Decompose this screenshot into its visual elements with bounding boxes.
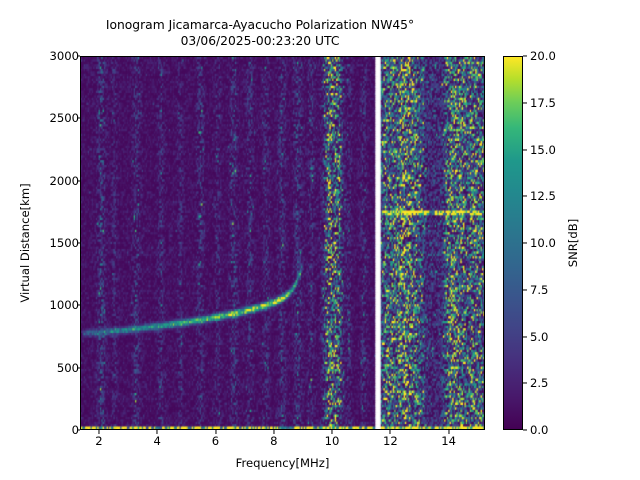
colorbar-label: SNR[dB] — [566, 56, 580, 430]
x-tick-mark — [448, 430, 449, 434]
x-tick-mark — [157, 430, 158, 434]
x-tick-label: 4 — [154, 434, 161, 448]
x-tick-mark — [273, 430, 274, 434]
y-tick-label: 2000 — [49, 174, 79, 188]
x-tick-label: 6 — [212, 434, 219, 448]
colorbar-tick-mark — [523, 289, 527, 290]
colorbar-tick-mark — [523, 242, 527, 243]
x-tick-mark — [98, 430, 99, 434]
colorbar-tick-label: 7.5 — [530, 283, 548, 297]
y-tick-label: 1000 — [49, 298, 79, 312]
y-tick-label: 2500 — [49, 111, 79, 125]
colorbar-tick-label: 20.0 — [530, 49, 556, 63]
x-tick-label: 2 — [95, 434, 102, 448]
colorbar-tick-mark — [523, 429, 527, 430]
x-tick-label: 8 — [270, 434, 277, 448]
colorbar-tick-label: 10.0 — [530, 236, 556, 250]
colorbar-tick-mark — [523, 196, 527, 197]
x-tick-mark — [390, 430, 391, 434]
colorbar-tick-label: 15.0 — [530, 143, 556, 157]
chart-title: Ionogram Jicamarca-Ayacucho Polarization… — [0, 18, 520, 49]
colorbar-tick-label: 17.5 — [530, 96, 556, 110]
chart-title-line2: 03/06/2025-00:23:20 UTC — [181, 34, 340, 48]
colorbar-tick-mark — [523, 55, 527, 56]
x-axis-label: Frequency[MHz] — [80, 456, 485, 470]
x-tick-label: 10 — [325, 434, 340, 448]
y-axis-label: Virtual Distance[km] — [18, 56, 32, 430]
ionogram-heatmap-canvas — [81, 57, 485, 430]
x-tick-mark — [215, 430, 216, 434]
x-tick-mark — [332, 430, 333, 434]
ionogram-plot-area[interactable] — [80, 56, 485, 430]
colorbar-tick-label: 12.5 — [530, 189, 556, 203]
y-tick-label: 3000 — [49, 49, 79, 63]
colorbar-tick-label: 2.5 — [530, 376, 548, 390]
colorbar-tick-mark — [523, 336, 527, 337]
colorbar-tick-label: 0.0 — [530, 423, 548, 437]
y-tick-label: 500 — [57, 361, 79, 375]
colorbar-tick-mark — [523, 102, 527, 103]
chart-title-line1: Ionogram Jicamarca-Ayacucho Polarization… — [106, 18, 414, 32]
x-tick-label: 12 — [383, 434, 398, 448]
colorbar-tick-mark — [523, 383, 527, 384]
colorbar[interactable] — [503, 56, 523, 430]
colorbar-tick-label: 5.0 — [530, 330, 548, 344]
y-tick-label: 1500 — [49, 236, 79, 250]
x-tick-label: 14 — [441, 434, 456, 448]
colorbar-tick-mark — [523, 149, 527, 150]
figure: Ionogram Jicamarca-Ayacucho Polarization… — [0, 0, 640, 480]
y-tick-label: 0 — [72, 423, 79, 437]
